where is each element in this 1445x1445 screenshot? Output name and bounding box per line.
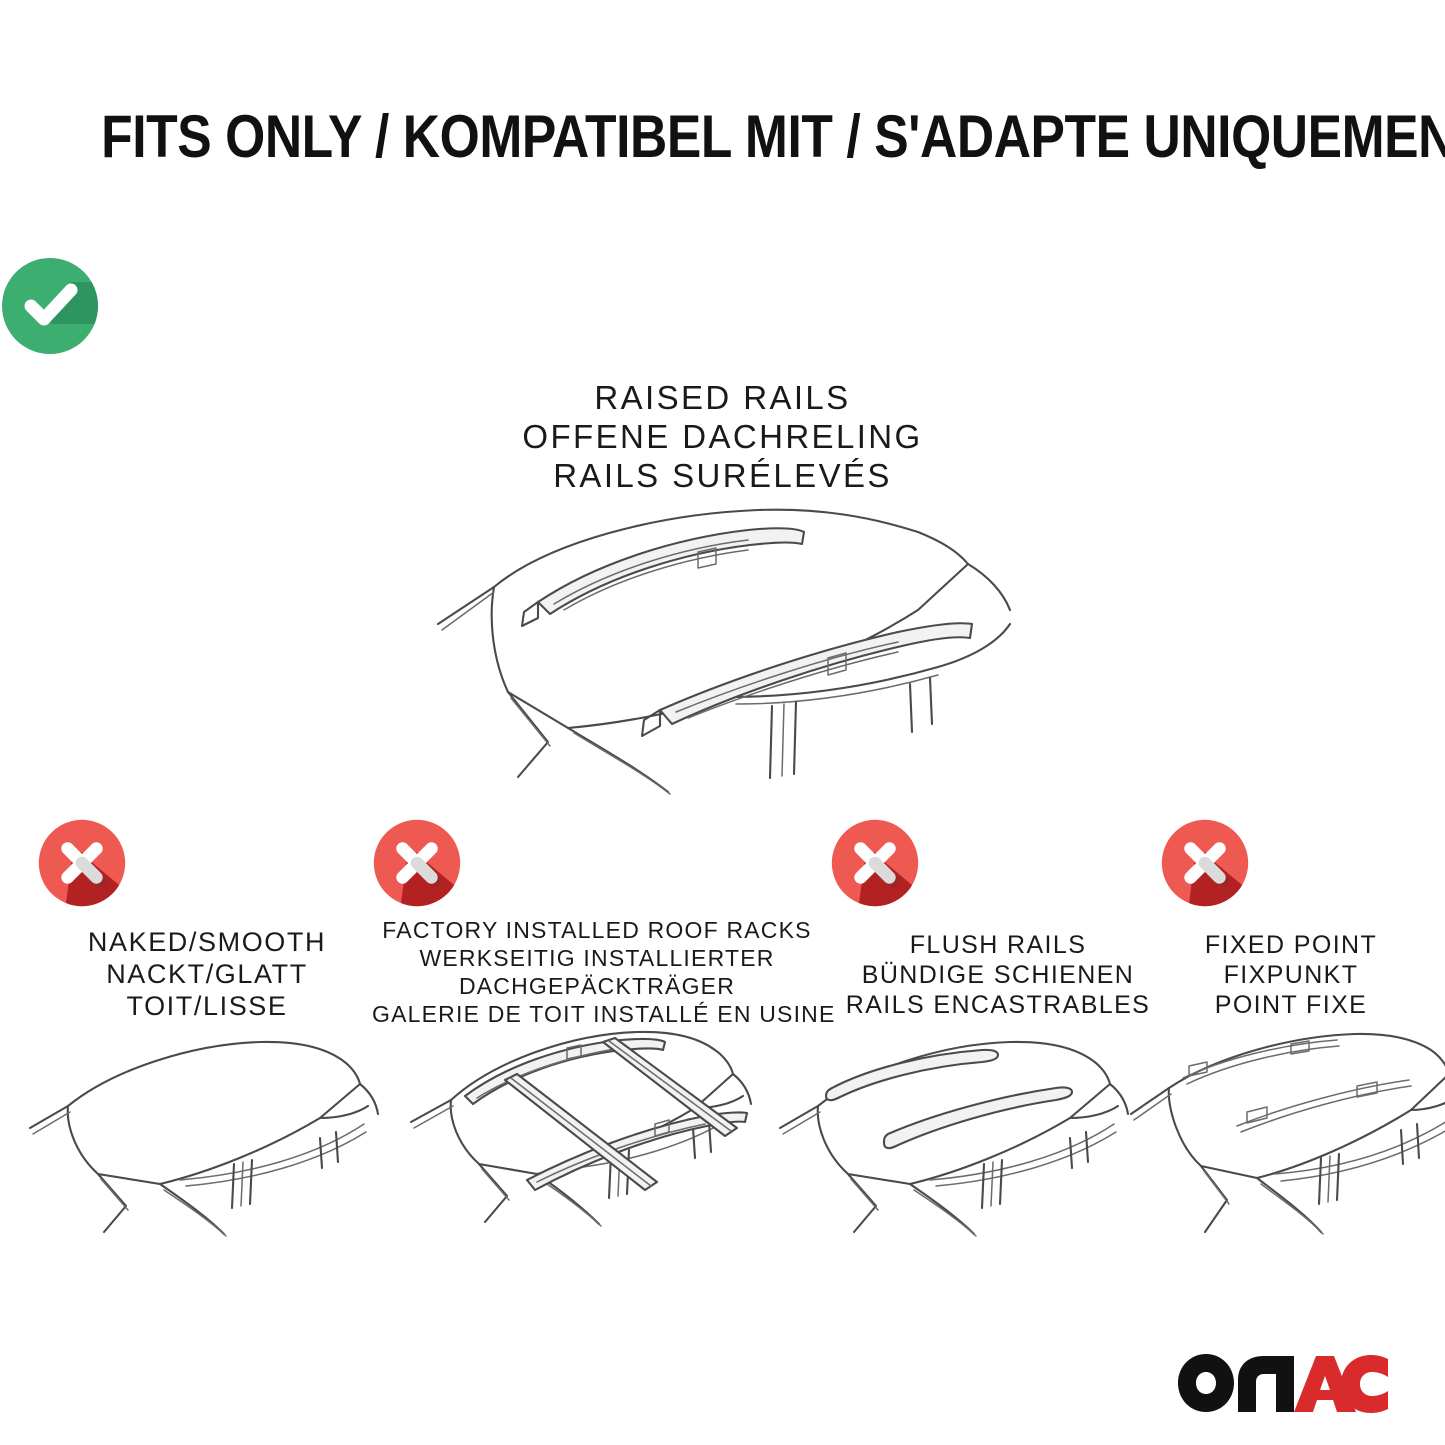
omac-logo xyxy=(1176,1352,1391,1414)
car-roof-factory-crossbars-illustration xyxy=(395,1000,755,1245)
red-x-icon xyxy=(830,818,1166,908)
car-roof-fixed-points-illustration xyxy=(1125,1018,1445,1248)
red-x-icon xyxy=(372,818,822,908)
infographic-page: FITS ONLY / KOMPATIBEL MIT / S'ADAPTE UN… xyxy=(0,0,1445,1445)
label-line-en: FIXED POINT xyxy=(1160,930,1422,960)
label-line-de: NACKT/GLATT xyxy=(37,958,377,990)
compatible-label-en: RAISED RAILS xyxy=(0,378,1445,417)
raised-rails-illustration xyxy=(398,492,1048,812)
compatible-labels: RAISED RAILS OFFENE DACHRELING RAILS SUR… xyxy=(0,378,1445,495)
label-line-en: NAKED/SMOOTH xyxy=(37,926,377,958)
label-line-en: FLUSH RAILS xyxy=(830,930,1166,960)
label-line-fr: TOIT/LISSE xyxy=(37,990,377,1022)
label-line-fr: RAILS ENCASTRABLES xyxy=(830,990,1166,1020)
red-x-icon xyxy=(1160,818,1422,908)
compatible-label-fr: RAILS SURÉLEVÉS xyxy=(0,456,1445,495)
red-x-icon xyxy=(37,818,377,908)
compatible-section: RAISED RAILS OFFENE DACHRELING RAILS SUR… xyxy=(0,256,1445,495)
incompatible-labels: NAKED/SMOOTH NACKT/GLATT TOIT/LISSE xyxy=(37,926,377,1022)
incompatible-column-fixed-point: FIXED POINT FIXPUNKT POINT FIXE xyxy=(1160,818,1422,1020)
incompatible-column-factory-racks: FACTORY INSTALLED ROOF RACKS WERKSEITIG … xyxy=(372,818,822,1028)
label-line-fr: POINT FIXE xyxy=(1160,990,1422,1020)
page-title: FITS ONLY / KOMPATIBEL MIT / S'ADAPTE UN… xyxy=(101,104,1344,170)
label-line-de-2: DACHGEPÄCKTRÄGER xyxy=(372,972,822,1000)
logo-letter-o xyxy=(1178,1354,1234,1412)
incompatible-labels: FLUSH RAILS BÜNDIGE SCHIENEN RAILS ENCAS… xyxy=(830,930,1166,1020)
incompatible-column-naked-smooth: NAKED/SMOOTH NACKT/GLATT TOIT/LISSE xyxy=(37,818,377,1022)
label-line-de: FIXPUNKT xyxy=(1160,960,1422,990)
label-line-de-1: WERKSEITIG INSTALLIERTER xyxy=(372,944,822,972)
label-line-en: FACTORY INSTALLED ROOF RACKS xyxy=(372,916,822,944)
car-roof-bare-illustration xyxy=(20,1022,380,1247)
label-line-de: BÜNDIGE SCHIENEN xyxy=(830,960,1166,990)
green-check-icon xyxy=(0,256,1445,356)
car-roof-flush-rails-illustration xyxy=(770,1022,1130,1247)
incompatible-column-flush-rails: FLUSH RAILS BÜNDIGE SCHIENEN RAILS ENCAS… xyxy=(830,818,1166,1020)
logo-letter-m xyxy=(1238,1356,1294,1412)
incompatible-section: NAKED/SMOOTH NACKT/GLATT TOIT/LISSE xyxy=(0,818,1445,918)
compatible-label-de: OFFENE DACHRELING xyxy=(0,417,1445,456)
incompatible-labels: FIXED POINT FIXPUNKT POINT FIXE xyxy=(1160,930,1422,1020)
